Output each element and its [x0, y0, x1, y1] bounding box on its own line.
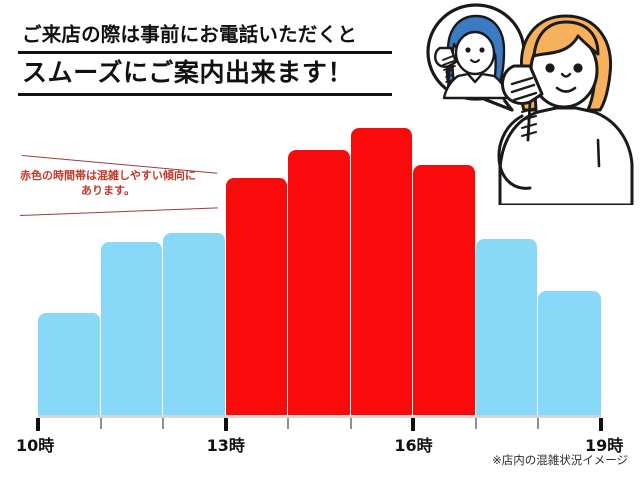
axis-tick-major [599, 418, 603, 431]
annotation-line-1: 赤色の時間帯は混雑しやすい傾向に [8, 168, 208, 183]
chart-bar [476, 239, 539, 417]
chart-bar [226, 178, 289, 417]
axis-tick-minor [350, 418, 352, 429]
axis-tick-minor [100, 418, 102, 429]
axis-tick-major [36, 418, 40, 431]
chart-axis-baseline [38, 415, 601, 418]
axis-tick-major [411, 418, 415, 431]
poster-canvas: ご来店の際は事前にお電話いただくと スムーズにご案内出来ます！ [0, 0, 640, 480]
axis-tick-minor [287, 418, 289, 429]
axis-tick-label: 10時 [16, 432, 54, 456]
axis-tick-label: 16時 [394, 432, 432, 456]
chart-bar [538, 291, 601, 417]
axis-tick-minor [537, 418, 539, 429]
chart-footnote: ※店内の混雑状況イメージ [492, 452, 628, 468]
chart-bar [351, 128, 414, 417]
axis-tick-label: 13時 [207, 432, 245, 456]
chart-bar [101, 242, 164, 417]
phone-call-illustration [418, 0, 640, 205]
annotation-note: 赤色の時間帯は混雑しやすい傾向に あります。 [8, 168, 208, 198]
chart-bar [163, 233, 226, 417]
annotation-line-2: あります。 [8, 183, 208, 198]
axis-tick-minor [475, 418, 477, 429]
axis-tick-minor [162, 418, 164, 429]
chart-bar [38, 313, 101, 417]
chart-bar [288, 150, 351, 417]
illustration-svg [418, 0, 640, 205]
axis-tick-major [224, 418, 228, 431]
